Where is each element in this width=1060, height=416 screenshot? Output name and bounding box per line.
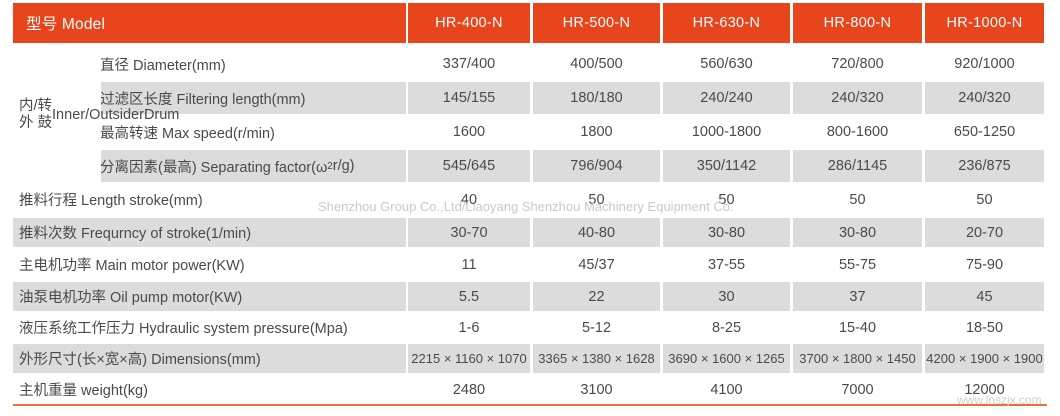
table-cell: 11 [408,250,530,279]
row-label: 油泵电机功率 Oil pump motor(KW) [19,282,242,311]
table-cell: 286/1145 [793,150,922,182]
specification-table: 型号 Model HR-400-N HR-500-N HR-630-N HR-8… [0,0,1060,416]
row-label: 主机重量 weight(kg) [19,376,148,403]
table-cell: 800-1600 [793,116,922,148]
table-cell: 22 [533,282,660,311]
group-label-line: Outsider [89,107,144,124]
header-model-0: HR-400-N [408,3,530,43]
table-cell: 1000-1800 [663,116,790,148]
table-cell: 18-50 [925,314,1044,341]
row-label: 推料行程 Length stroke(mm) [19,184,203,215]
table-cell: 37-55 [663,250,790,279]
group-label-line: Inner/ [52,107,89,124]
table-cell: 2480 [408,376,530,403]
table-cell: 15-40 [793,314,922,341]
table-cell: 3100 [533,376,660,403]
table-cell: 3365 × 1380 × 1628 [533,344,660,373]
row-label: 直径 Diameter(mm) [100,48,226,80]
table-cell: 30-70 [408,218,530,247]
table-cell: 545/645 [408,150,530,182]
bottom-rule [13,404,1047,406]
table-cell: 45/37 [533,250,660,279]
table-cell: 55-75 [793,250,922,279]
header-model-3: HR-800-N [793,3,922,43]
header-model-4: HR-1000-N [925,3,1044,43]
table-row: 油泵电机功率 Oil pump motor(KW)5.522303745 [0,282,1060,311]
table-cell: 720/800 [793,48,922,80]
table-cell: 650-1250 [925,116,1044,148]
table-cell: 337/400 [408,48,530,80]
table-cell: 236/875 [925,150,1044,182]
table-cell: 1-6 [408,314,530,341]
table-cell: 240/320 [925,82,1044,114]
table-cell: 3690 × 1600 × 1265 [663,344,790,373]
table-cell: 4100 [663,376,790,403]
header-model-1: HR-500-N [533,3,660,43]
table-cell: 240/240 [663,82,790,114]
table-cell: 12000 [925,376,1044,403]
group-label-line: Drum [144,107,179,124]
table-cell: 796/904 [533,150,660,182]
table-cell: 7000 [793,376,922,403]
table-header-row: 型号 Model HR-400-N HR-500-N HR-630-N HR-8… [0,0,1060,46]
table-cell: 45 [925,282,1044,311]
table-row: 推料行程 Length stroke(mm)4050505050 [0,184,1060,215]
table-cell: 240/320 [793,82,922,114]
table-cell: 8-25 [663,314,790,341]
table-cell: 20-70 [925,218,1044,247]
table-cell: 145/155 [408,82,530,114]
table-cell: 30-80 [793,218,922,247]
table-cell: 3700 × 1800 × 1450 [793,344,922,373]
table-cell: 5.5 [408,282,530,311]
group-cell-inner-outsider-drum: 内/外转鼓Inner/OutsiderDrum [13,48,101,182]
table-cell: 1600 [408,116,530,148]
table-cell: 50 [793,184,922,215]
table-row: 外形尺寸(长×宽×高) Dimensions(mm)2215 × 1160 × … [0,344,1060,373]
table-cell: 400/500 [533,48,660,80]
table-cell: 4200 × 1900 × 1900 [925,344,1044,373]
table-cell: 37 [793,282,922,311]
row-label: 推料次数 Frequrncy of stroke(1/min) [19,218,251,247]
table-cell: 50 [925,184,1044,215]
header-model-title: 型号 Model [13,3,406,43]
table-cell: 40-80 [533,218,660,247]
table-cell: 180/180 [533,82,660,114]
table-cell: 50 [533,184,660,215]
table-cell: 5-12 [533,314,660,341]
table-cell: 75-90 [925,250,1044,279]
table-cell: 560/630 [663,48,790,80]
table-cell: 350/1142 [663,150,790,182]
row-label: 外形尺寸(长×宽×高) Dimensions(mm) [19,344,261,373]
superscript-exponent: 2 [327,161,332,172]
table-cell: 30 [663,282,790,311]
table-cell: 2215 × 1160 × 1070 [408,344,530,373]
table-cell: 50 [663,184,790,215]
table-cell: 920/1000 [925,48,1044,80]
table-row: 分离因素(最高) Separating factor(ω2r/g)545/645… [0,150,1060,182]
row-label: 分离因素(最高) Separating factor(ω2r/g) [100,150,355,182]
table-row: 主机重量 weight(kg)248031004100700012000 [0,376,1060,403]
table-row: 推料次数 Frequrncy of stroke(1/min)30-7040-8… [0,218,1060,247]
group-label-line: 转鼓 [38,98,53,132]
header-model-2: HR-630-N [663,3,790,43]
table-cell: 1800 [533,116,660,148]
group-label-line: 内/外 [19,98,38,132]
row-label: 液压系统工作压力 Hydraulic system pressure(Mpa) [19,314,348,341]
table-cell: 30-80 [663,218,790,247]
table-row: 主电机功率 Main motor power(KW)1145/3737-5555… [0,250,1060,279]
table-cell: 40 [408,184,530,215]
row-label: 主电机功率 Main motor power(KW) [19,250,245,279]
table-row: 直径 Diameter(mm)337/400400/500560/630720/… [0,48,1060,80]
table-row: 液压系统工作压力 Hydraulic system pressure(Mpa)1… [0,314,1060,341]
